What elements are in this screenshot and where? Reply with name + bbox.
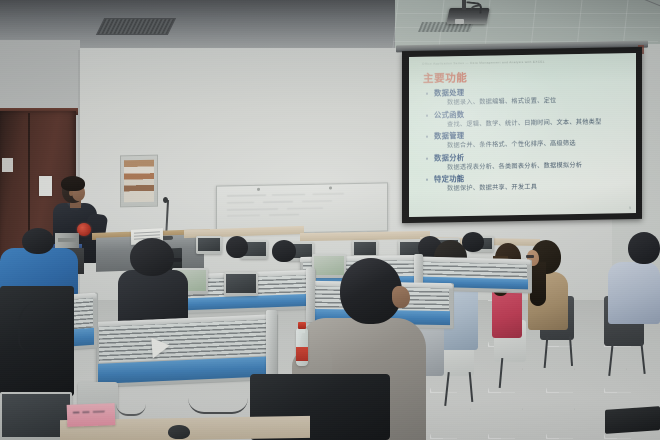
- presenter-chest-logo-icon: [77, 223, 91, 236]
- pc-tower-drive-bay: [58, 238, 76, 242]
- eyeglasses-icon: [168, 258, 182, 262]
- computer-mouse[interactable]: [168, 425, 190, 439]
- projector-lens-icon: [455, 19, 464, 24]
- microphone-icon: [163, 197, 168, 203]
- framed-wall-panel: [120, 155, 158, 208]
- attendee-ear-grey-jacket: [392, 286, 410, 308]
- list-item: 数据处理 数据录入、数据编辑、格式设置、定位: [425, 85, 630, 109]
- monitor-screen: [314, 256, 344, 275]
- monitor-screen: [226, 274, 256, 293]
- wall-panel-stripes: [124, 160, 154, 203]
- attendee-hair-long: [530, 262, 546, 306]
- pink-label-handwriting: [73, 408, 109, 419]
- slide-bullet-list: 数据处理 数据录入、数据编辑、格式设置、定位 公式函数 查找、逻辑、数学、统计、…: [425, 85, 630, 196]
- folded-paper: [151, 336, 170, 358]
- cubicle-divider: [96, 314, 276, 386]
- attendee-body-striped-shirt: [608, 262, 660, 324]
- ceiling-vent-icon: [96, 18, 176, 35]
- list-item: 数据管理 数据合并、条件格式、个性化排序、高级筛选: [425, 128, 630, 152]
- presenter-hair: [61, 176, 85, 191]
- slide-header-line: Office Application Series — Data Managem…: [422, 58, 628, 68]
- slide-bullet-sub: 数据保护、数据共享、开发工具: [425, 181, 630, 195]
- projected-slide: Office Application Series — Data Managem…: [409, 53, 636, 217]
- photo-scene: Office Application Series — Data Managem…: [0, 0, 660, 440]
- computer-keyboard[interactable]: [605, 406, 660, 434]
- attendee-body-glasses: [118, 270, 188, 324]
- monitor[interactable]: [196, 236, 222, 254]
- attendee-head-glasses: [130, 238, 174, 276]
- list-item: 特定功能 数据保护、数据共享、开发工具: [425, 171, 630, 195]
- monitor-screen: [198, 238, 220, 251]
- water-bottle-label: [296, 347, 308, 361]
- attendee-head: [272, 240, 296, 262]
- eyeglasses-icon: [526, 255, 534, 258]
- attendee-head-striped-shirt: [628, 232, 660, 264]
- slide-title: 主要功能: [423, 70, 467, 86]
- slide-page-number: 5: [629, 206, 631, 210]
- list-item: 公式函数 查找、逻辑、数学、统计、日期时间、文本、其他类型: [425, 107, 630, 131]
- cubicle-post: [306, 268, 315, 322]
- whiteboard-magnet: [329, 186, 332, 189]
- monitor-screen: [354, 242, 376, 255]
- cable: [188, 398, 248, 414]
- list-item: 数据分析 数据透视表分析、各类图表分析、数据模拟分析: [425, 150, 630, 174]
- cabinet-notice-paper: [39, 176, 52, 196]
- water-bottle-cap[interactable]: [298, 322, 306, 329]
- whiteboard-writing: [227, 191, 377, 220]
- whiteboard-magnet: [257, 188, 260, 191]
- pink-label-note: [67, 403, 116, 427]
- attendee-head-blue-jacket: [22, 228, 54, 254]
- monitor[interactable]: [224, 272, 258, 296]
- attendee-head: [226, 236, 248, 258]
- cabinet-notice-paper-secondary: [2, 158, 13, 172]
- monitor[interactable]: [312, 254, 346, 278]
